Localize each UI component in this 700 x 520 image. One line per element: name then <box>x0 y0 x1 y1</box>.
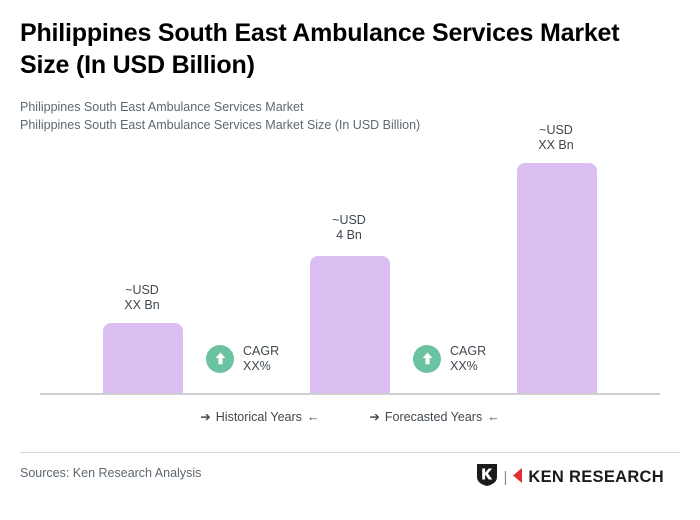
cagr-label-2: CAGR XX% <box>450 344 486 373</box>
arrow-up-icon <box>206 345 234 373</box>
bar-value-label-1: ~USD XX Bn <box>97 283 187 312</box>
arrow-right-icon: ➔ <box>195 410 215 424</box>
legend-historical-years-label: Historical Years <box>216 410 302 424</box>
ken-research-logo: | KEN RESEARCH <box>476 463 664 492</box>
bar-value-label-3: ~USD XX Bn <box>511 123 601 152</box>
bar-1[interactable] <box>103 323 183 394</box>
arrow-left-icon: ← <box>302 410 325 424</box>
bar-2[interactable] <box>310 256 390 394</box>
legend-forecasted-years: ➔Forecasted Years← <box>364 409 504 424</box>
bar-value-label-2: ~USD 4 Bn <box>304 213 394 242</box>
legend-historical-years: ➔Historical Years← <box>195 409 324 424</box>
bar-chart-plot: ~USD XX Bn CAGR XX% ~USD 4 Bn CAGR XX% ~… <box>0 0 700 440</box>
legend-forecasted-years-label: Forecasted Years <box>385 410 482 424</box>
cagr-label-1: CAGR XX% <box>243 344 279 373</box>
arrow-left-icon: ← <box>482 410 505 424</box>
cagr-annotation-1[interactable]: CAGR XX% <box>206 344 279 373</box>
arrow-up-icon <box>413 345 441 373</box>
cagr-annotation-2[interactable]: CAGR XX% <box>413 344 486 373</box>
sources-text: Sources: Ken Research Analysis <box>20 466 201 480</box>
x-axis-line <box>40 393 660 395</box>
ken-research-k-accent-icon <box>512 467 523 489</box>
brand-name: KEN RESEARCH <box>528 468 664 487</box>
bar-3[interactable] <box>517 163 597 394</box>
ken-research-shield-icon <box>476 463 498 492</box>
arrow-right-icon: ➔ <box>364 410 384 424</box>
footer-divider <box>20 452 680 453</box>
period-legend: ➔Historical Years← ➔Forecasted Years← <box>0 409 700 424</box>
logo-divider: | <box>503 469 507 486</box>
